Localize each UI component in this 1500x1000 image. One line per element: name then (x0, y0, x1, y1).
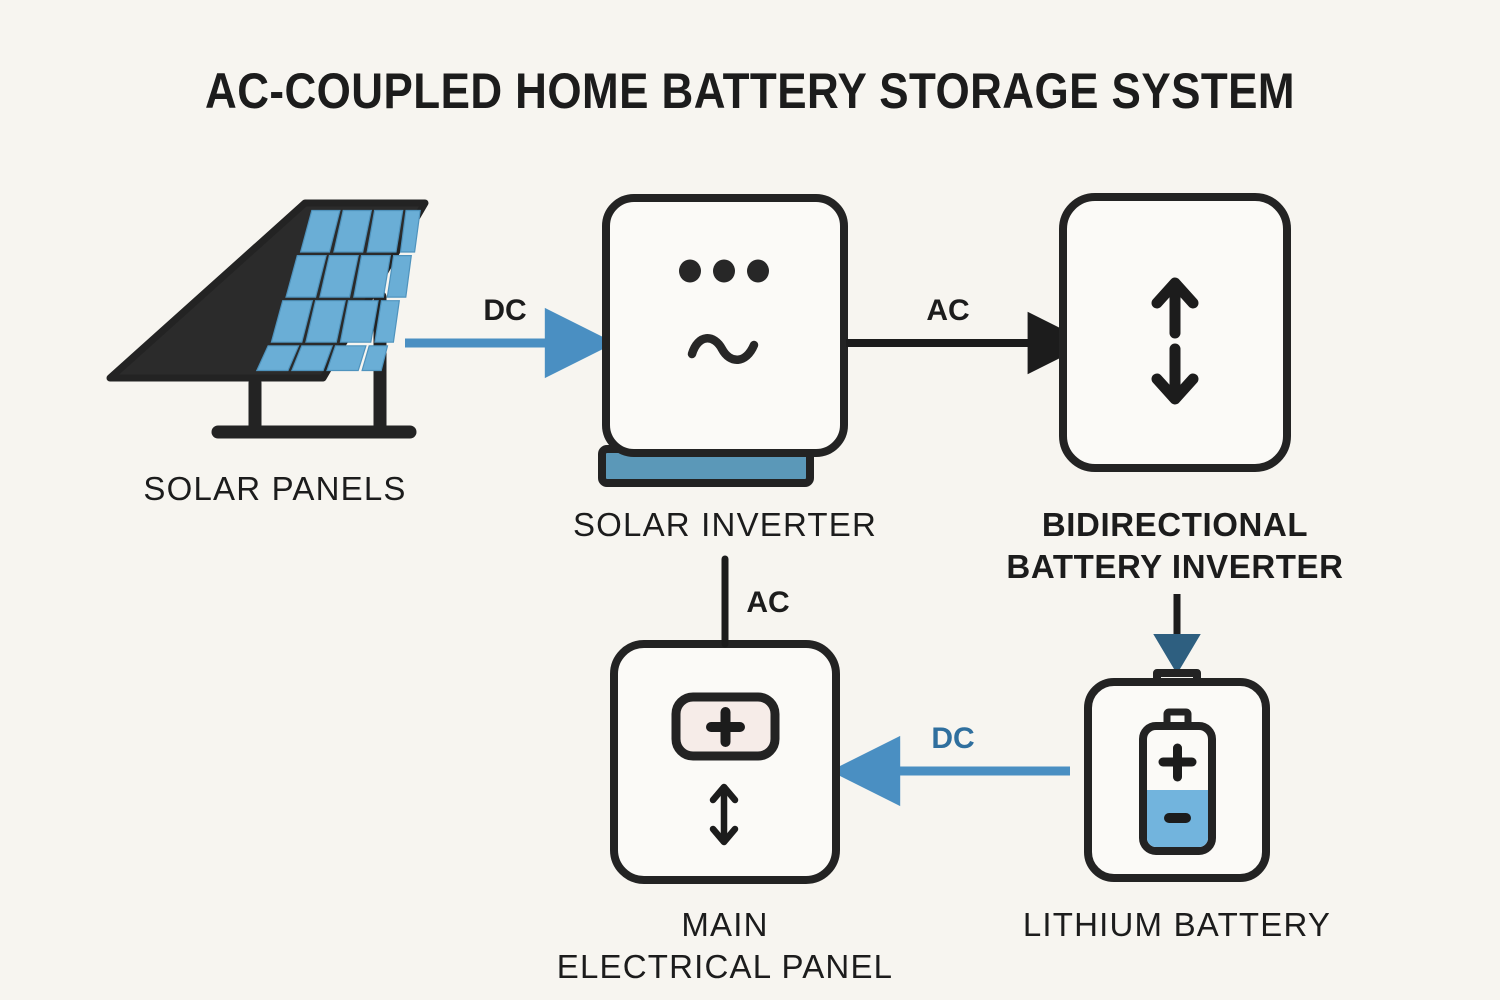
solar-panel-icon (107, 200, 427, 378)
label-solar-panels: SOLAR PANELS (143, 470, 406, 507)
node-bidirectional-battery-inverter[interactable]: BIDIRECTIONAL BATTERY INVERTER (1006, 197, 1343, 585)
node-lithium-battery[interactable]: LITHIUM BATTERY (1023, 673, 1331, 943)
inverter-body (606, 198, 844, 453)
label-ac-inverter-to-battery-inverter: AC (926, 294, 969, 327)
label-main-electrical-panel-line2: ELECTRICAL PANEL (557, 948, 893, 985)
label-bidirectional-battery-inverter-line1: BIDIRECTIONAL (1042, 506, 1308, 543)
node-solar-panels[interactable]: SOLAR PANELS (107, 200, 427, 507)
connection-panels-to-inverter: DC (405, 294, 570, 343)
connection-main-panel-to-inverter: AC (725, 559, 790, 644)
label-bidirectional-battery-inverter-line2: BATTERY INVERTER (1006, 548, 1343, 585)
indicator-dots-icon (679, 260, 769, 283)
battery-icon (1143, 712, 1212, 851)
node-main-electrical-panel[interactable]: MAIN ELECTRICAL PANEL (557, 644, 893, 985)
node-solar-inverter[interactable]: SOLAR INVERTER (573, 198, 877, 543)
page-title: AC-COUPLED HOME BATTERY STORAGE SYSTEM (205, 63, 1295, 119)
diagram-canvas: AC-COUPLED HOME BATTERY STORAGE SYSTEM (0, 0, 1500, 1000)
connection-inverter-to-battery-inverter: AC (846, 294, 1050, 343)
label-dc-panels-to-inverter: DC (483, 294, 526, 327)
label-ac-main-panel-to-inverter: AC (746, 586, 789, 619)
connection-battery-inverter-to-battery (1155, 594, 1199, 672)
label-main-electrical-panel-line1: MAIN (681, 906, 768, 943)
down-arrow-head (1155, 635, 1199, 672)
connection-battery-to-main-panel: DC (875, 722, 1070, 771)
ac-coupled-storage-diagram: AC-COUPLED HOME BATTERY STORAGE SYSTEM (0, 0, 1500, 1000)
label-dc-battery-to-main-panel: DC (931, 722, 974, 755)
label-solar-inverter: SOLAR INVERTER (573, 506, 877, 543)
label-lithium-battery: LITHIUM BATTERY (1023, 906, 1331, 943)
battery-minus-icon (1164, 813, 1191, 823)
